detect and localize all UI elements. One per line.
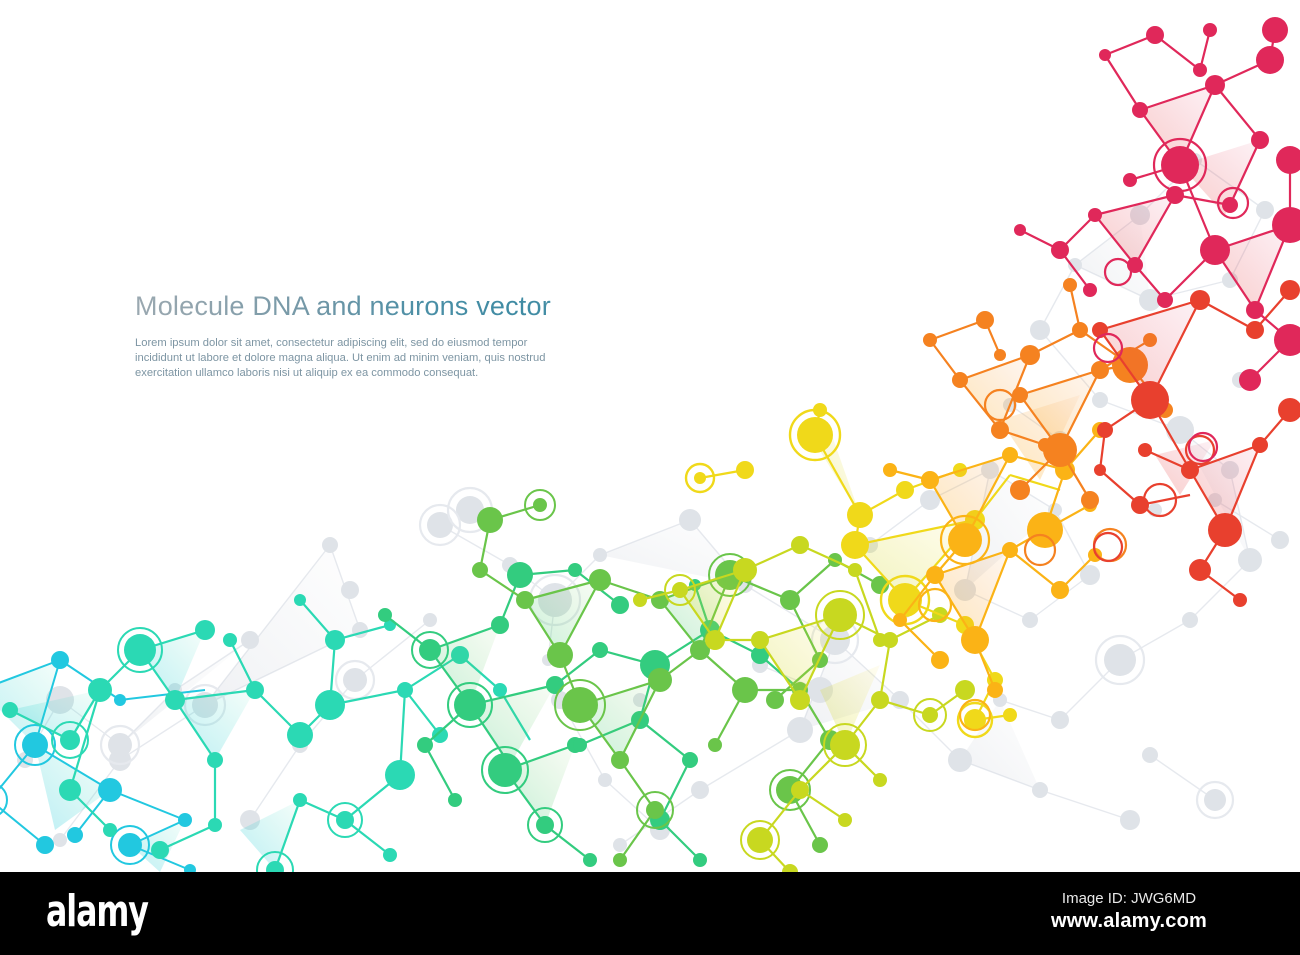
alamy-url: www.alamy.com	[1004, 909, 1254, 934]
poster-canvas: Molecule DNA and neurons vector Lorem ip…	[0, 0, 1300, 955]
alamy-logo: alamy	[46, 886, 148, 938]
headline-block: Molecule DNA and neurons vector Lorem ip…	[135, 291, 605, 382]
image-id-label: Image ID: JWG6MD	[1004, 888, 1254, 909]
network-svg	[0, 0, 1300, 872]
watermark-meta: Image ID: JWG6MD www.alamy.com	[1004, 888, 1254, 934]
body-paragraph: Lorem ipsum dolor sit amet, consectetur …	[135, 336, 565, 382]
alamy-watermark-bar: alamy Image ID: JWG6MD www.alamy.com	[0, 872, 1300, 955]
molecule-network-artwork	[0, 0, 1300, 872]
page-title: Molecule DNA and neurons vector	[135, 291, 605, 322]
body-text: Lorem ipsum dolor sit amet, consectetur …	[135, 336, 565, 382]
